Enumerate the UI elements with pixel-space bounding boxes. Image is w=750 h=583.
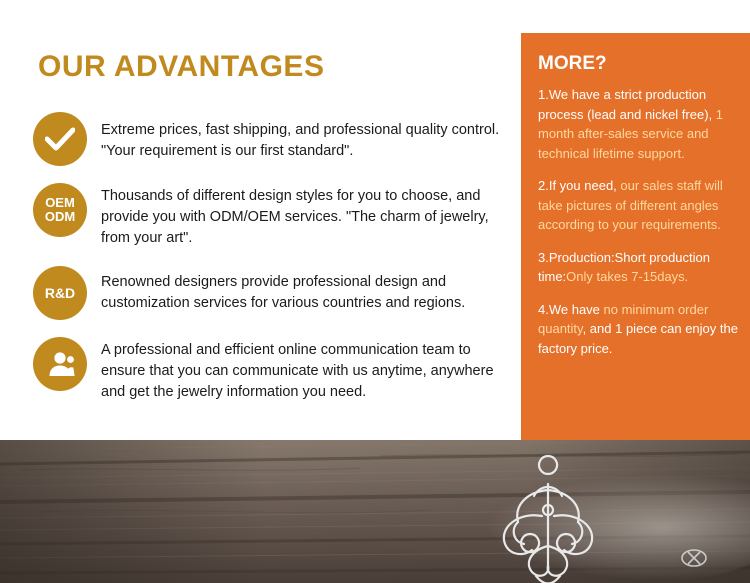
advantages-page: OUR ADVANTAGES Extreme prices, fast ship… [0, 0, 750, 583]
badge-line: R&D [45, 286, 75, 301]
more-panel-title: MORE? [538, 53, 607, 75]
advantages-list: Extreme prices, fast shipping, and profe… [33, 112, 513, 420]
more-panel-body: 1.We have a strict production process (l… [538, 85, 738, 371]
oem-odm-badge: OEM ODM [33, 183, 87, 237]
paragraph-segment: Only takes 7-15days. [566, 269, 688, 284]
paragraph-segment: 2.If you need, [538, 178, 620, 193]
list-item: A professional and efficient online comm… [33, 337, 513, 403]
list-item-text: Extreme prices, fast shipping, and profe… [101, 112, 513, 162]
more-paragraph: 2.If you need, our sales staff will take… [538, 176, 738, 235]
rd-badge: R&D [33, 266, 87, 320]
more-panel: MORE? 1.We have a strict production proc… [521, 33, 750, 440]
advantages-section: OUR ADVANTAGES Extreme prices, fast ship… [0, 0, 521, 440]
more-paragraph: 1.We have a strict production process (l… [538, 85, 738, 163]
check-icon [33, 112, 87, 166]
list-item: Extreme prices, fast shipping, and profe… [33, 112, 513, 166]
jewelry-photo [0, 440, 750, 583]
list-item-text: A professional and efficient online comm… [101, 337, 513, 403]
page-title: OUR ADVANTAGES [38, 50, 324, 84]
paragraph-segment: 4.We have [538, 302, 604, 317]
paragraph-segment: 1.We have a strict production process (l… [538, 87, 716, 122]
list-item-text: Renowned designers provide professional … [101, 266, 513, 314]
badge-line: ODM [45, 209, 75, 224]
person-icon [33, 337, 87, 391]
more-paragraph: 4.We have no minimum order quantity, and… [538, 300, 738, 359]
list-item-text: Thousands of different design styles for… [101, 183, 513, 249]
more-paragraph: 3.Production:Short production time:Only … [538, 248, 738, 287]
list-item: R&D Renowned designers provide professio… [33, 266, 513, 320]
list-item: OEM ODM Thousands of different design st… [33, 183, 513, 249]
